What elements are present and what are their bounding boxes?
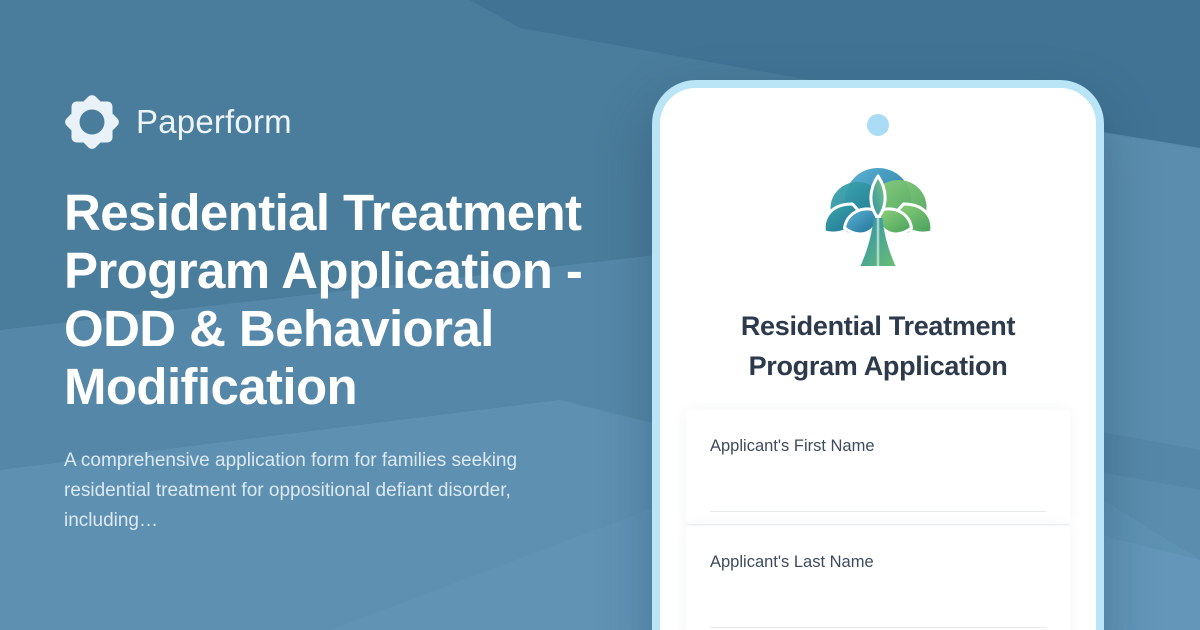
field-label: Applicant's Last Name bbox=[710, 552, 1046, 572]
form-field-list: Applicant's First Name Applicant's Last … bbox=[686, 410, 1070, 630]
page-title: Residential Treatment Program Applicatio… bbox=[64, 184, 609, 416]
phone-mockup: Residential Treatment Program Applicatio… bbox=[652, 80, 1104, 630]
field-underline bbox=[710, 511, 1046, 512]
camera-dot-icon bbox=[867, 114, 889, 136]
brand-lockup: Paperform bbox=[64, 94, 664, 150]
phone-screen: Residential Treatment Program Applicatio… bbox=[660, 88, 1096, 630]
form-field-last-name[interactable]: Applicant's Last Name bbox=[686, 526, 1070, 630]
tree-leaf-logo-icon bbox=[817, 152, 940, 275]
field-label: Applicant's First Name bbox=[710, 436, 1046, 456]
page-description: A comprehensive application form for fam… bbox=[64, 446, 534, 536]
form-field-first-name[interactable]: Applicant's First Name bbox=[686, 410, 1070, 524]
brand-name: Paperform bbox=[136, 103, 292, 141]
field-underline bbox=[710, 627, 1046, 628]
paperform-rosette-icon bbox=[64, 94, 120, 150]
form-title: Residential Treatment Program Applicatio… bbox=[660, 306, 1096, 386]
social-card-canvas: Paperform Residential Treatment Program … bbox=[0, 0, 1200, 630]
hero-content: Paperform Residential Treatment Program … bbox=[64, 0, 664, 630]
